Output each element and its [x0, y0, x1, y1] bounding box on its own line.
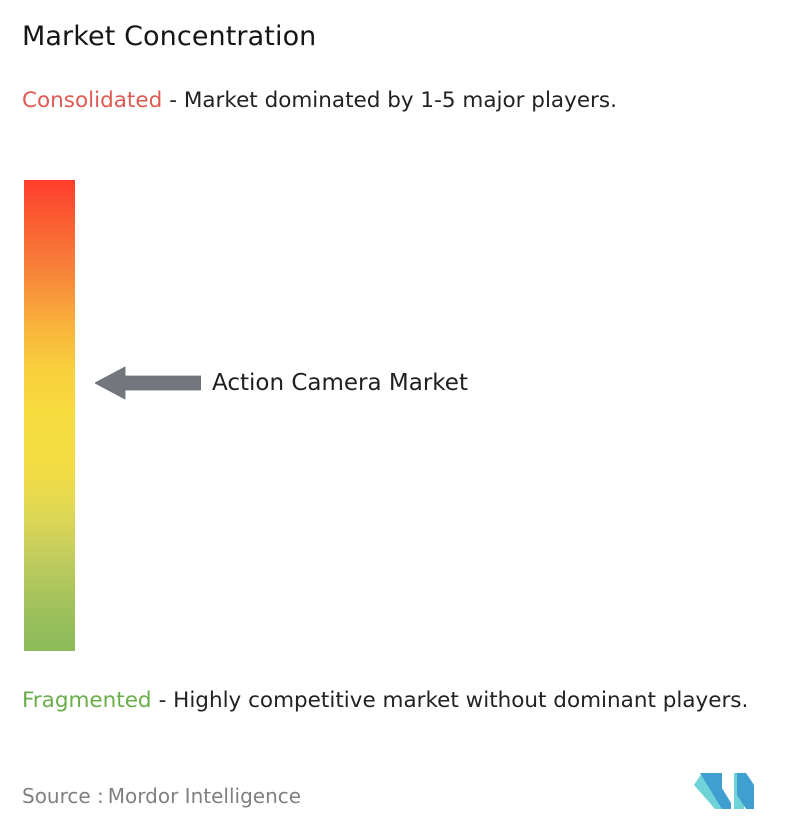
mordor-intelligence-logo-icon [694, 771, 754, 811]
caption-fragmented-keyword: Fragmented [22, 688, 152, 713]
caption-consolidated-description: - Market dominated by 1-5 major players. [169, 88, 617, 113]
caption-fragmented-description: - Highly competitive market without domi… [159, 688, 749, 713]
source-attribution: Source :Mordor Intelligence [22, 783, 301, 809]
market-concentration-gradient-bar [24, 180, 75, 651]
page-title: Market Concentration [22, 20, 316, 54]
caption-fragmented: Fragmented- Highly competitive market wi… [22, 685, 784, 716]
source-value: Mordor Intelligence [108, 784, 301, 808]
chart-canvas: Market Concentration Consolidated- Marke… [0, 0, 796, 834]
caption-consolidated: Consolidated- Market dominated by 1-5 ma… [22, 85, 774, 116]
left-arrow-icon [95, 363, 201, 403]
caption-consolidated-keyword: Consolidated [22, 88, 162, 113]
source-label: Source : [22, 784, 104, 808]
market-position-marker-label: Action Camera Market [212, 369, 468, 397]
market-position-marker: Action Camera Market [95, 363, 468, 403]
